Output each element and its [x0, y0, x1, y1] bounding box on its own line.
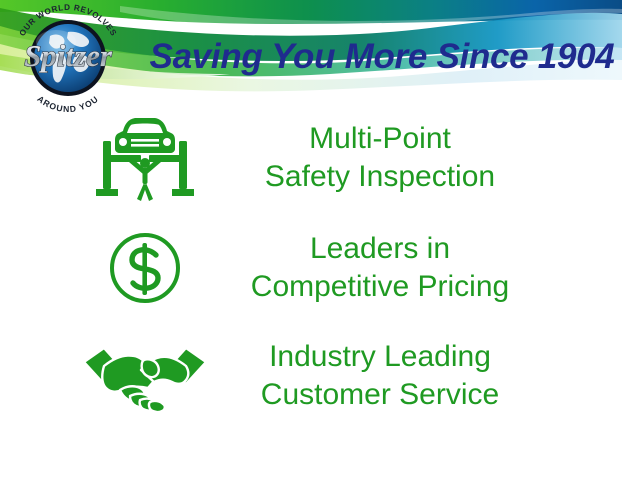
feature-row: Multi-Point Safety Inspection	[70, 108, 540, 208]
spitzer-logo-graphic: OUR WORLD REVOLVES AROUND YOU Spitzer	[4, 2, 132, 114]
page-title: Saving You More Since 1904	[148, 37, 616, 77]
feature-line: Industry Leading	[220, 338, 540, 376]
feature-line: Multi-Point	[220, 120, 540, 158]
feature-text: Multi-Point Safety Inspection	[220, 120, 540, 197]
feature-line: Customer Service	[220, 376, 540, 414]
feature-text: Industry Leading Customer Service	[220, 338, 540, 415]
feature-text: Leaders in Competitive Pricing	[220, 230, 540, 307]
feature-line: Safety Inspection	[220, 158, 540, 196]
marketing-slide: OUR WORLD REVOLVES AROUND YOU Spitzer Sa…	[0, 0, 622, 483]
spitzer-logo[interactable]: OUR WORLD REVOLVES AROUND YOU Spitzer	[4, 2, 132, 114]
dollar-circle-icon	[70, 228, 220, 308]
logo-wordmark: Spitzer	[24, 38, 113, 73]
handshake-icon	[70, 336, 220, 416]
svg-text:Spitzer: Spitzer	[24, 38, 113, 73]
car-on-lift-icon	[70, 113, 220, 203]
feature-line: Leaders in	[220, 230, 540, 268]
feature-line: Competitive Pricing	[220, 268, 540, 306]
feature-row: Industry Leading Customer Service	[70, 326, 540, 426]
feature-row: Leaders in Competitive Pricing	[70, 218, 540, 318]
